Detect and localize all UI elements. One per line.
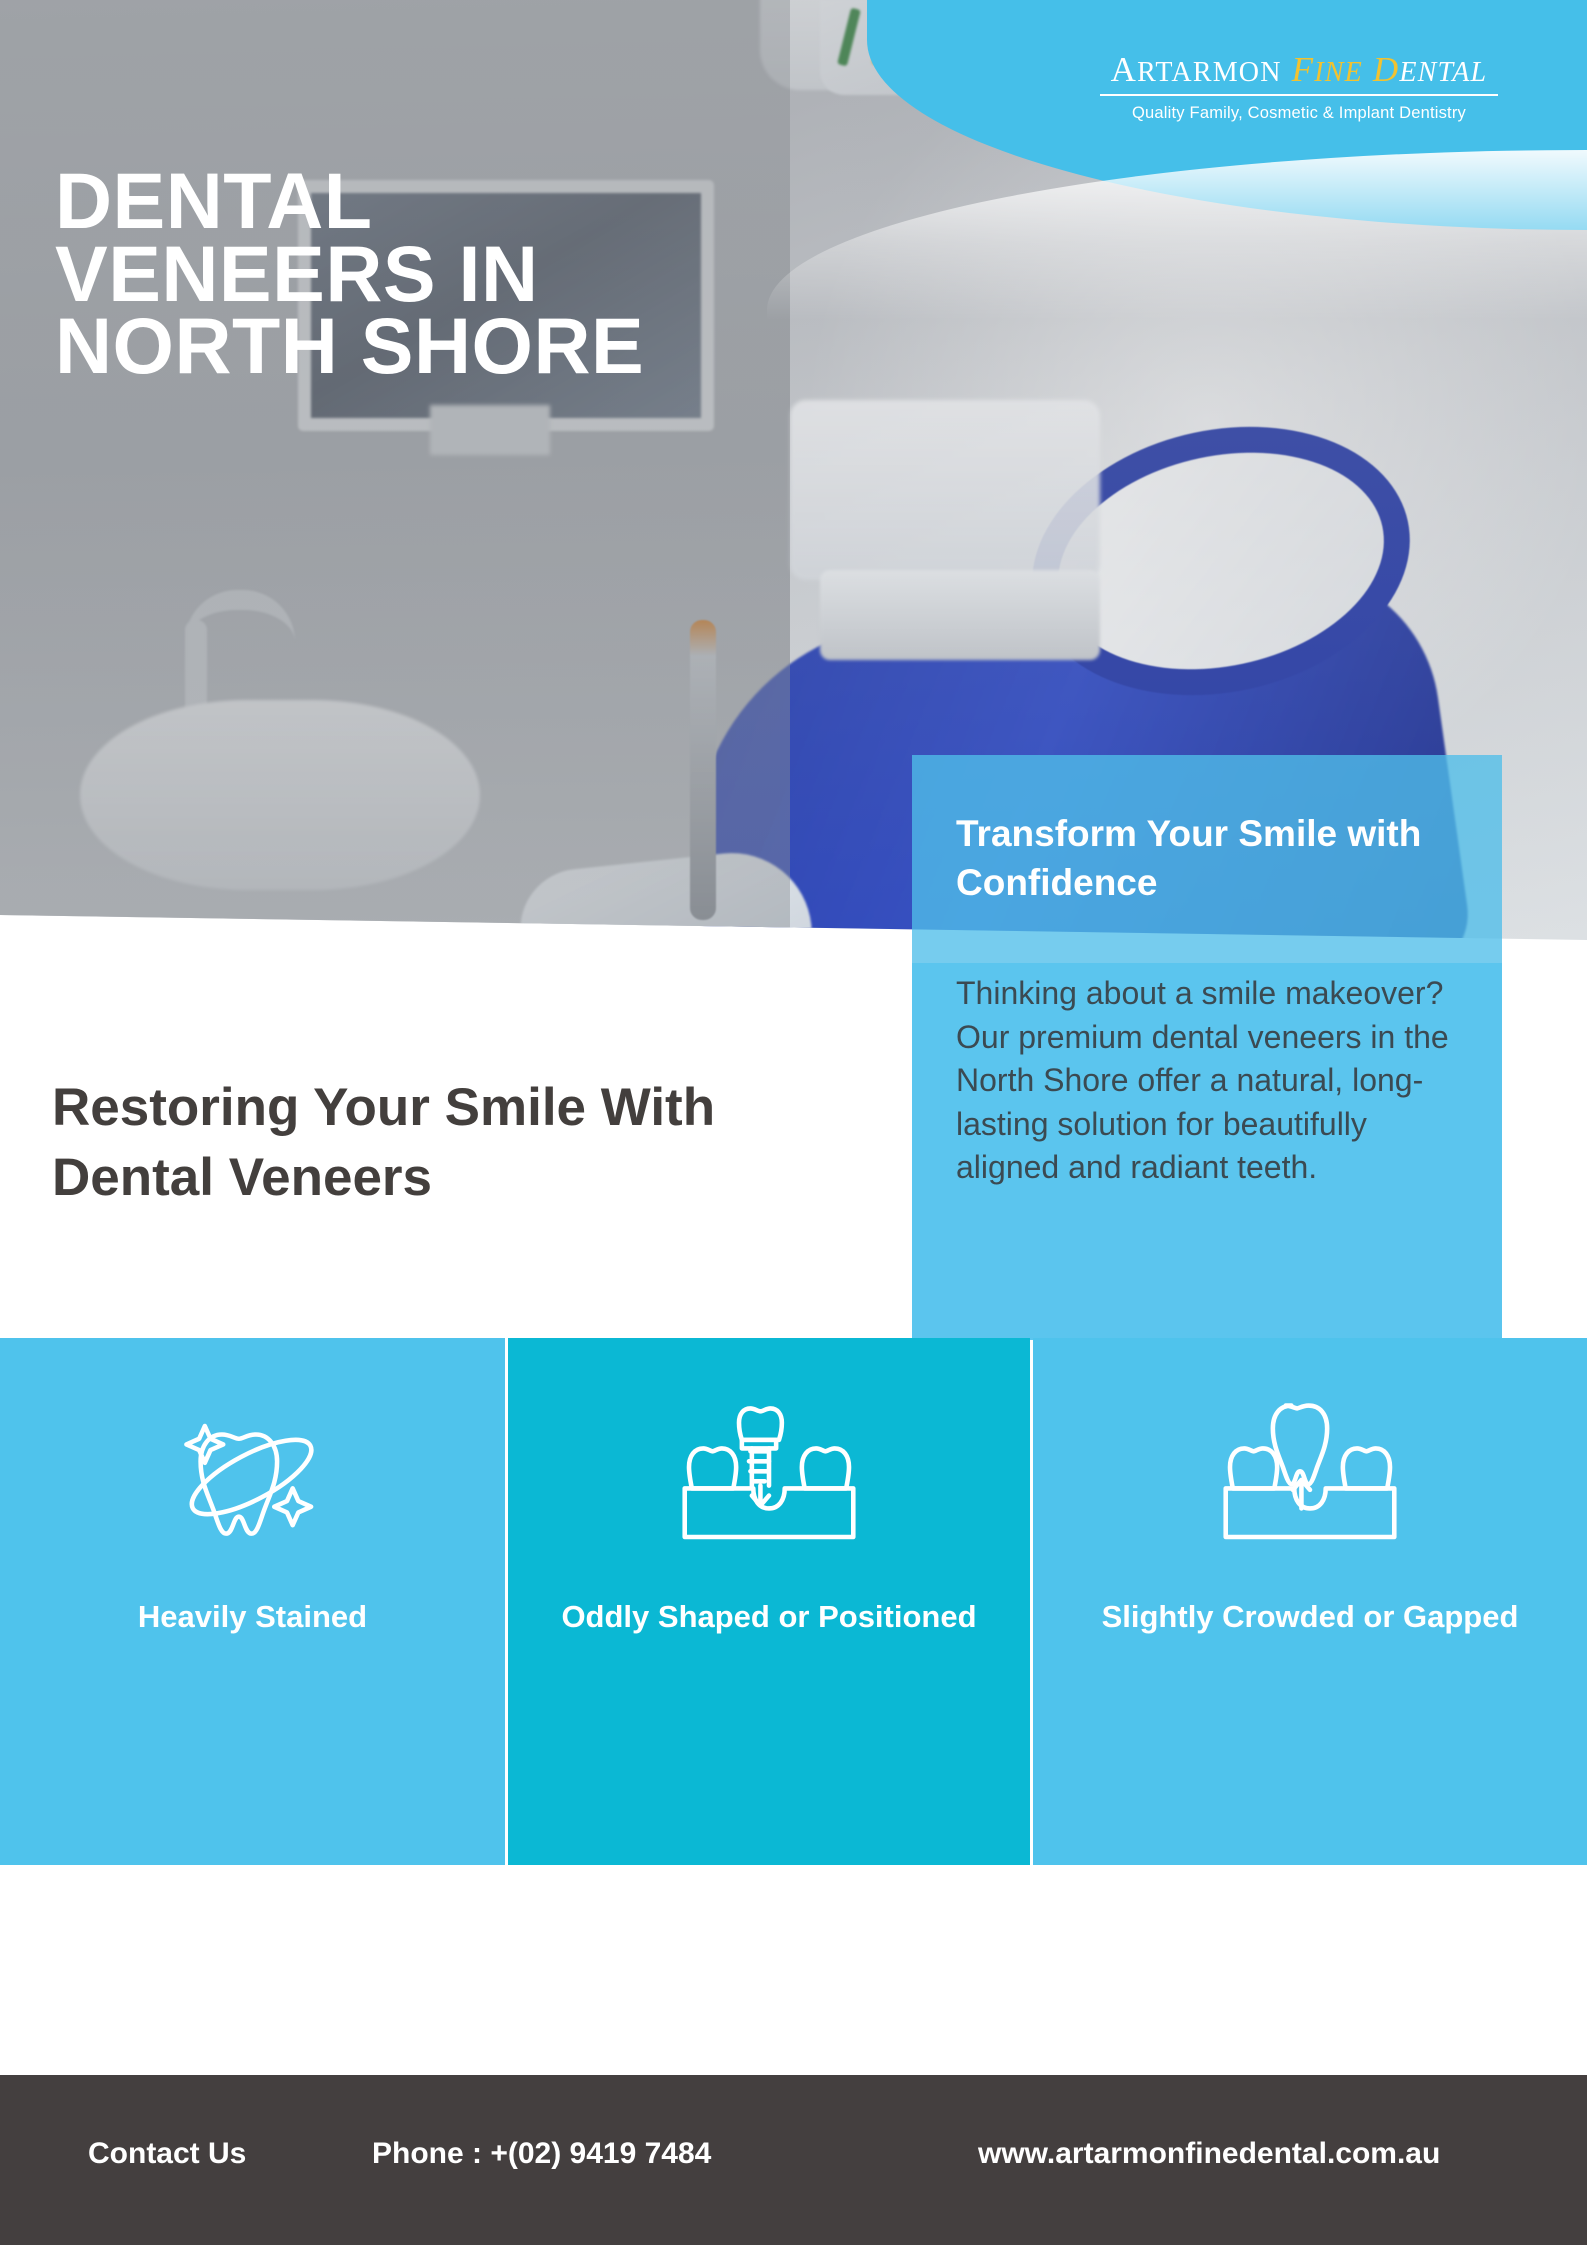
- logo-letter-a: A: [1111, 50, 1137, 89]
- sparkling-tooth-icon: [0, 1393, 505, 1561]
- page-title: DENTAL VENEERS IN NORTH SHORE: [55, 165, 695, 383]
- card-heavily-stained[interactable]: Heavily Stained: [0, 1338, 505, 1865]
- footer-content: Contact Us Phone : +(02) 9419 7484 www.a…: [0, 2075, 1587, 2245]
- dental-implant-icon: [508, 1393, 1030, 1561]
- brand-tagline: Quality Family, Cosmetic & Implant Denti…: [1089, 104, 1509, 123]
- panel-body-text: Thinking about a smile makeover? Our pre…: [956, 972, 1476, 1190]
- footer-contact-label: Contact Us: [88, 2137, 246, 2171]
- panel-title: Transform Your Smile with Confidence: [956, 810, 1466, 908]
- card-oddly-shaped-or-positioned[interactable]: Oddly Shaped or Positioned: [508, 1338, 1030, 1865]
- footer-bar: Contact Us Phone : +(02) 9419 7484 www.a…: [0, 2075, 1587, 2245]
- logo-word-dental: ENTAL: [1399, 57, 1487, 88]
- logo-word-fine: INE: [1314, 57, 1363, 88]
- tooth-extraction-icon: [1033, 1393, 1587, 1561]
- section-heading: Restoring Your Smile With Dental Veneers: [52, 1073, 832, 1213]
- logo-divider: [1100, 94, 1498, 96]
- logo-letter-f: F: [1292, 50, 1315, 89]
- logo-word-artarmon: RTARMON: [1137, 57, 1282, 88]
- veneer-candidate-cards: Heavily Stained: [0, 1338, 1587, 1865]
- footer-website[interactable]: www.artarmonfinedental.com.au: [978, 2137, 1440, 2171]
- card-label: Oddly Shaped or Positioned: [508, 1597, 1030, 1637]
- brand-logo-wordmark: ARTARMON FINE DENTAL: [1089, 50, 1509, 90]
- highlight-panel: Transform Your Smile with Confidence Thi…: [912, 755, 1502, 1340]
- card-slightly-crowded-or-gapped[interactable]: Slightly Crowded or Gapped: [1033, 1338, 1587, 1865]
- brand-logo: ARTARMON FINE DENTAL Quality Family, Cos…: [1089, 50, 1509, 123]
- footer-phone[interactable]: Phone : +(02) 9419 7484: [372, 2137, 711, 2171]
- card-label: Slightly Crowded or Gapped: [1033, 1597, 1587, 1637]
- card-label: Heavily Stained: [0, 1597, 505, 1637]
- poster-root: ARTARMON FINE DENTAL Quality Family, Cos…: [0, 0, 1587, 2245]
- logo-letter-d: D: [1373, 50, 1399, 89]
